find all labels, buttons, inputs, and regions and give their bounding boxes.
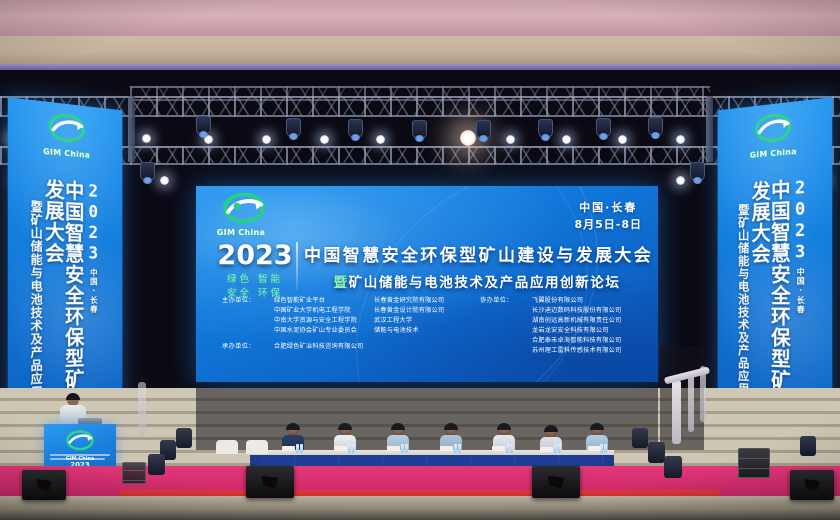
cohost-item: 湖南创远高新机械有限责任公司: [532, 316, 621, 326]
water-bottle: [405, 444, 408, 453]
spot-light: [506, 135, 515, 144]
floor-moving-head-light: [148, 454, 165, 475]
banner-year: 2023: [790, 177, 810, 263]
chair: [246, 440, 268, 454]
spacer: [480, 326, 532, 336]
organizer-label: 承办单位：: [222, 342, 274, 352]
equipment-road-case: [122, 462, 146, 484]
host-col1-item: 绿色智能矿业平台: [274, 296, 374, 306]
water-bottle: [554, 444, 557, 453]
main-led-screen: GIM China 中国·长春 8月5日-8日 2023 绿色 智能 安全 环保…: [196, 186, 658, 382]
host-col2-item: 长春黄金设计院有限公司: [374, 306, 472, 316]
water-bottle: [296, 444, 299, 453]
sponsor-row: 中南大学资源与安全工程学院 武汉工程大学: [222, 316, 472, 326]
host-col2-item: 武汉工程大学: [374, 316, 472, 326]
cohost-row: 协办单位： 飞翼股份有限公司: [480, 296, 648, 306]
panelist-hair: [444, 423, 458, 430]
gim-swoosh-logo-icon: [221, 193, 261, 227]
host-label: 主办单位：: [222, 296, 274, 306]
host-col1-item: 中国矿业大学机电工程学院: [274, 306, 374, 316]
spot-light: [676, 176, 685, 185]
spot-light: [376, 135, 385, 144]
screen-logo: GIM China: [208, 193, 274, 237]
screen-title-sub-prefix: 暨: [334, 275, 349, 291]
panelist-hair: [497, 423, 511, 430]
banner-logo-text: GIM China: [746, 147, 800, 161]
screen-logo-text: GIM China: [208, 228, 274, 237]
banner-logo-text: GIM China: [39, 147, 93, 161]
water-bottle: [458, 444, 461, 453]
water-bottle: [348, 444, 351, 453]
water-bottle: [352, 444, 355, 453]
balustrade-post: [138, 382, 146, 436]
equipment-road-case: [738, 448, 770, 478]
moving-head-light: [690, 162, 705, 181]
spacer: [222, 316, 274, 326]
screen-year-block: 2023 绿色 智能 安全 环保: [216, 242, 294, 301]
organizer-name: 合肥绿色矿冶科技咨询有限公司: [274, 342, 363, 352]
floor-monitor-speaker: [22, 470, 66, 500]
host-col2-item: 长春黄金研究院有限公司: [374, 296, 472, 306]
screen-title-block: 中国智慧安全环保型矿山建设与发展大会 暨矿山储能与电池技术及产品应用创新论坛: [304, 241, 650, 291]
cohost-row: 长沙迪迈数码科技股份有限公司: [480, 306, 648, 316]
spacer: [222, 306, 274, 316]
gim-swoosh-logo-icon: [47, 112, 86, 146]
spot-light: [562, 135, 571, 144]
floor-moving-head-light: [176, 428, 192, 448]
conference-stage-photo: GIM China 2023 中国·长春 中国智慧安全环保型矿山建设与发展大会 …: [0, 0, 840, 520]
moving-head-light: [648, 117, 663, 136]
cohost-item: 长沙迪迈数码科技股份有限公司: [532, 306, 621, 316]
name-card: [492, 446, 505, 451]
ceiling-surface: [0, 0, 840, 40]
name-card: [588, 446, 601, 451]
screen-title-sub: 矿山储能与电池技术及产品应用创新论坛: [349, 275, 621, 291]
moving-head-light: [286, 118, 301, 137]
water-bottle: [558, 444, 561, 453]
cohost-item: 合肥泰禾卓海智能科技有限公司: [532, 336, 621, 346]
water-bottle: [401, 444, 404, 453]
podium-title-line: [50, 458, 105, 460]
truss-upright: [706, 96, 713, 162]
screen-slogan-line1: 绿色 智能: [216, 273, 294, 287]
floor-monitor-speaker: [790, 470, 834, 500]
water-bottle: [454, 444, 457, 453]
cohost-row: 湖南创远高新机械有限责任公司: [480, 316, 648, 326]
ceiling-beam: [0, 36, 840, 66]
floor-moving-head-light: [632, 428, 648, 448]
floor-moving-head-light: [648, 442, 665, 463]
spot-light: [262, 135, 271, 144]
name-card: [334, 446, 347, 451]
moving-head-light: [348, 119, 363, 138]
screen-title-main: 中国智慧安全环保型矿山建设与发展大会: [304, 241, 650, 266]
steps-shadow-right: [660, 346, 704, 450]
spot-light: [160, 176, 169, 185]
spot-light: [676, 135, 685, 144]
floor-moving-head-light: [800, 436, 816, 456]
cohost-row: 龙岩龙安安全科技有限公司: [480, 326, 648, 336]
chair: [216, 440, 238, 454]
host-col2-item: 储能与电池技术: [374, 326, 472, 336]
lighting-truss-lower: [0, 146, 840, 165]
screen-divider: [296, 242, 298, 290]
name-card: [540, 447, 553, 452]
moving-head-light: [538, 119, 553, 138]
screen-dates: 8月5日-8日: [574, 217, 642, 234]
spacer: [480, 306, 532, 316]
water-bottle: [604, 444, 607, 453]
water-bottle: [510, 444, 513, 453]
cohost-item: 飞翼股份有限公司: [532, 296, 583, 306]
banner-city: 中国·长春: [89, 268, 97, 313]
gim-swoosh-logo-icon: [754, 112, 793, 146]
balustrade-rail-post: [688, 372, 694, 432]
moving-head-light: [596, 118, 611, 137]
water-bottle: [300, 444, 303, 453]
floor-monitor-speaker: [246, 466, 294, 498]
spot-light: [320, 135, 329, 144]
podium-title-line: [50, 454, 110, 456]
panelist-hair: [544, 425, 558, 432]
floor-monitor-speaker: [532, 466, 580, 498]
cohost-label: 协办单位：: [480, 296, 532, 306]
cohost-item: 龙岩龙安安全科技有限公司: [532, 326, 609, 336]
spot-light-bright: [460, 130, 476, 146]
screen-title-sub-row: 暨矿山储能与电池技术及产品应用创新论坛: [304, 271, 650, 291]
sponsor-row: 中国矿业大学机电工程学院 长春黄金设计院有限公司: [222, 306, 472, 316]
sponsor-row: 中国水泥协会矿山专业委员会 储能与电池技术: [222, 326, 472, 336]
cohost-row: 合肥泰禾卓海智能科技有限公司: [480, 336, 648, 346]
spacer: [480, 336, 532, 346]
screen-city-block: 中国·长春 8月5日-8日: [574, 200, 642, 233]
moving-head-light: [476, 120, 491, 139]
gim-swoosh-logo-icon: [65, 430, 95, 452]
spot-light: [142, 134, 151, 143]
cohost-item: 苏州理工雷科传感技术有限公司: [532, 346, 621, 356]
panelist-hair: [590, 423, 604, 430]
truss-upright: [128, 96, 135, 162]
screen-sponsors: 主办单位： 绿色智能矿业平台 长春黄金研究院有限公司 中国矿业大学机电工程学院 …: [222, 296, 648, 356]
stage-front-edge: [0, 496, 840, 520]
banner-year: 2023: [84, 181, 103, 265]
water-bottle: [506, 444, 509, 453]
screen-city: 中国·长春: [574, 200, 642, 217]
panelist-hair: [338, 423, 352, 430]
spot-light: [618, 135, 627, 144]
banner-city: 中国·长春: [796, 267, 804, 314]
spacer: [480, 346, 532, 356]
sponsors-host-group: 主办单位： 绿色智能矿业平台 长春黄金研究院有限公司 中国矿业大学机电工程学院 …: [222, 296, 472, 356]
screen-year: 2023: [216, 242, 294, 269]
balustrade-post: [672, 380, 681, 444]
spacer: [222, 326, 274, 336]
panelist-hair: [391, 423, 405, 430]
moving-head-light: [412, 120, 427, 139]
organizer-row: 承办单位： 合肥绿色矿冶科技咨询有限公司: [222, 342, 472, 352]
panelist-hair: [286, 423, 300, 430]
moving-head-light: [196, 116, 211, 135]
sponsor-row: 主办单位： 绿色智能矿业平台 长春黄金研究院有限公司: [222, 296, 472, 306]
floor-moving-head-light: [664, 456, 682, 478]
name-card: [282, 446, 295, 451]
spacer: [480, 316, 532, 326]
name-card: [440, 446, 453, 451]
banner-logo: GIM China: [746, 111, 800, 160]
cohost-row: 苏州理工雷科传感技术有限公司: [480, 346, 648, 356]
sponsors-cohost-group: 协办单位： 飞翼股份有限公司 长沙迪迈数码科技股份有限公司 湖南创远高新机械有限…: [472, 296, 648, 356]
lighting-truss-main: [0, 96, 840, 117]
moving-head-light: [140, 162, 155, 181]
host-col1-item: 中南大学资源与安全工程学院: [274, 316, 374, 326]
name-card: [387, 446, 400, 451]
host-col1-item: 中国水泥协会矿山专业委员会: [274, 326, 374, 336]
banner-logo: GIM China: [39, 111, 93, 160]
speaker-hair: [66, 393, 80, 400]
